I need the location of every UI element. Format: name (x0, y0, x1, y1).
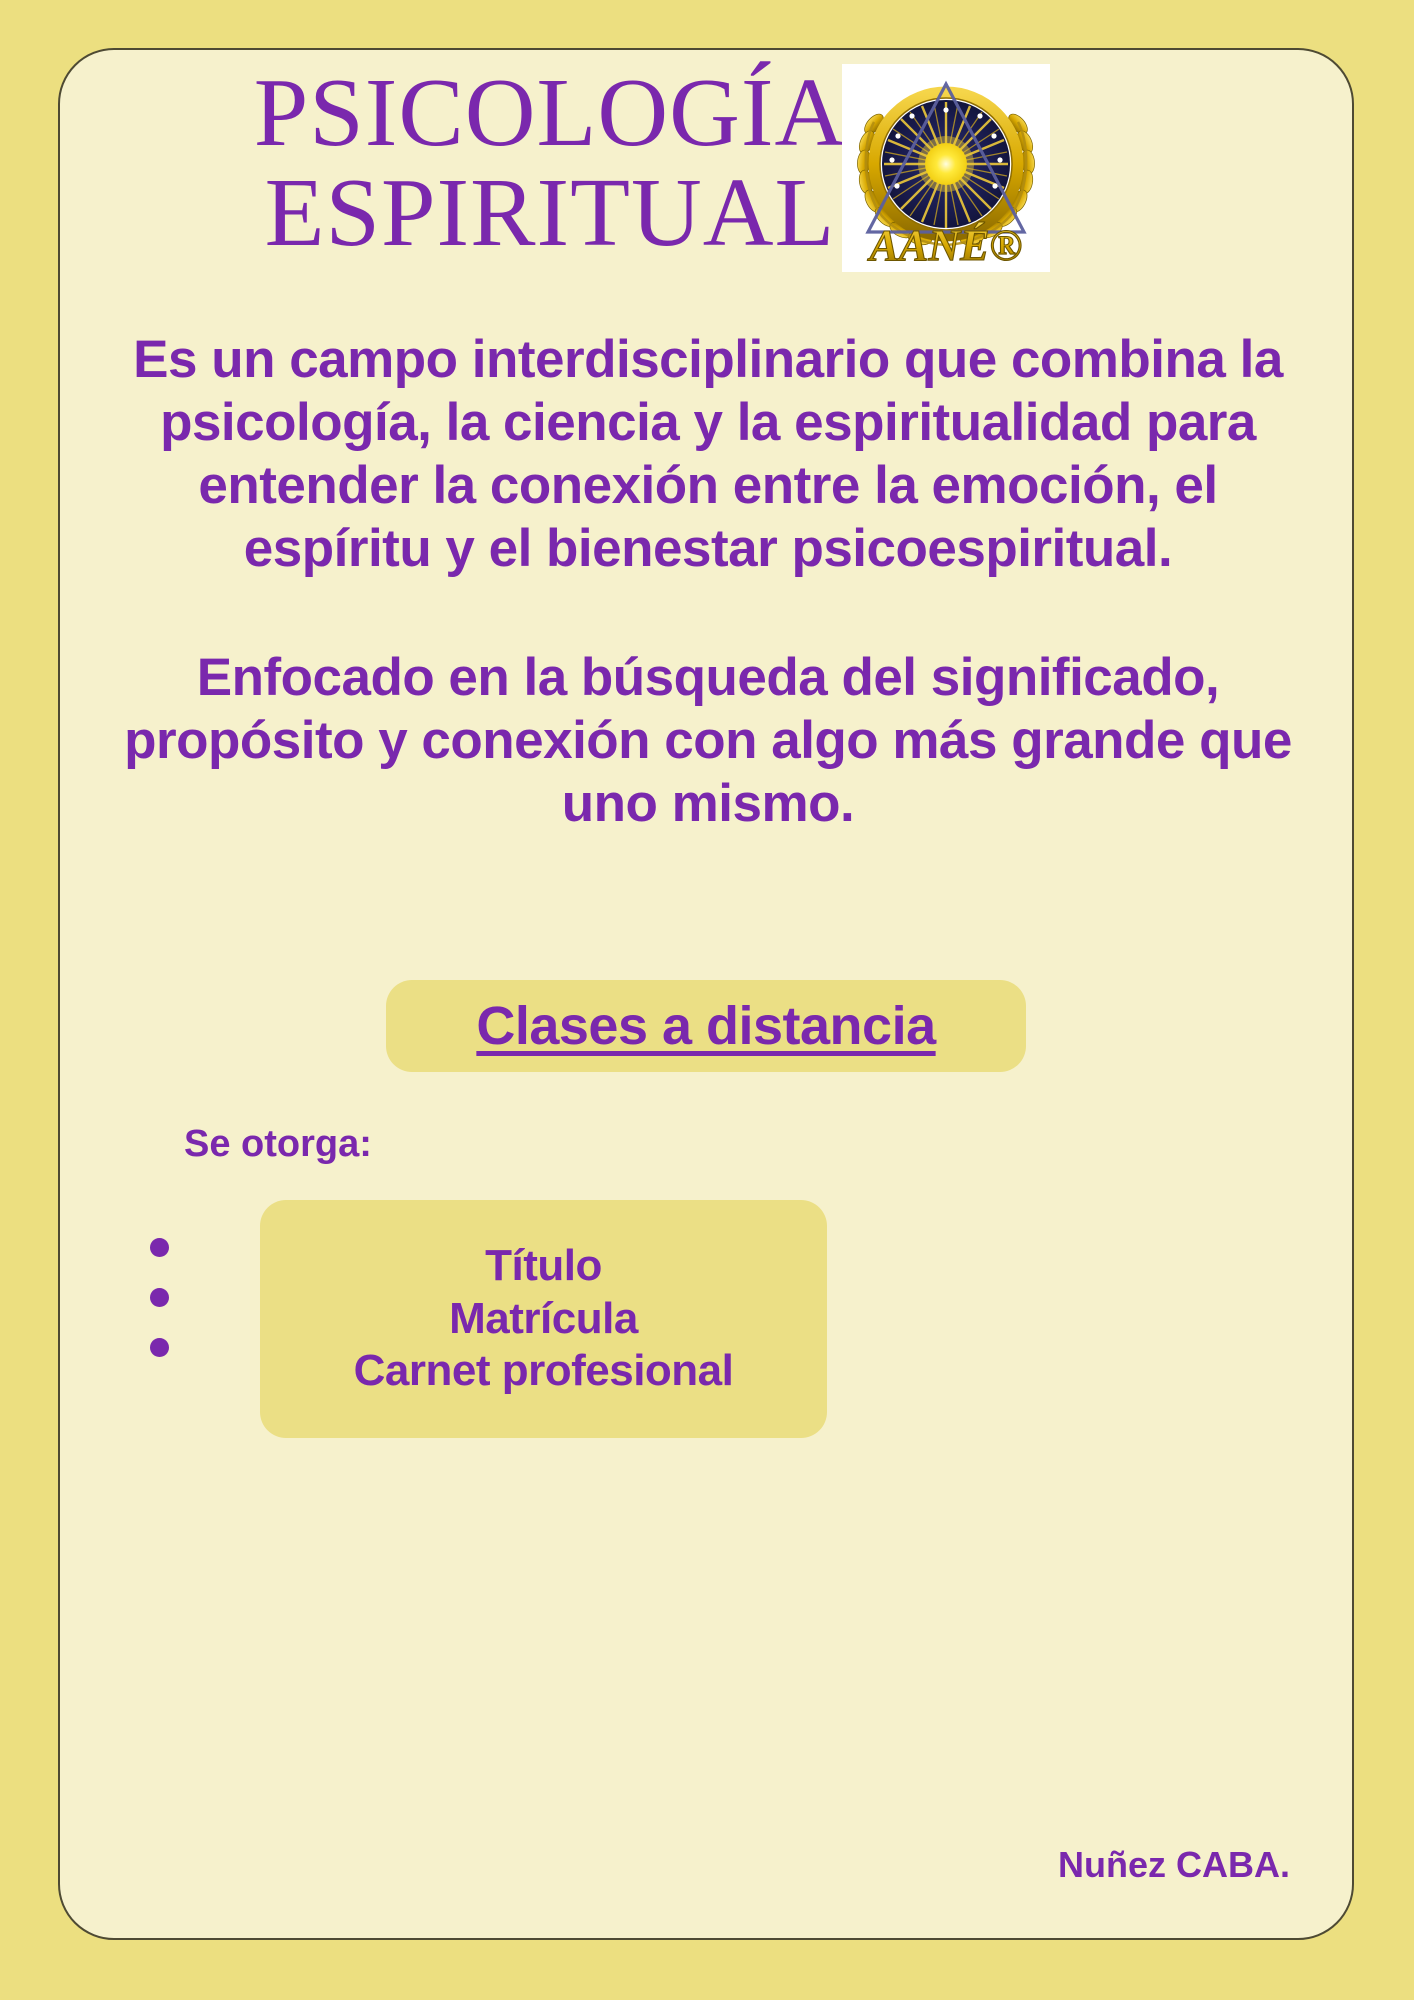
bullet-marker (150, 1288, 169, 1307)
credential-item: Título (485, 1240, 602, 1293)
poster-canvas: PSICOLOGÍA ESPIRITUAL (0, 0, 1414, 2000)
footer-location: Nuñez CABA. (1058, 1844, 1290, 1886)
page-title: PSICOLOGÍA ESPIRITUAL (170, 64, 930, 264)
credentials-heading: Se otorga: (184, 1123, 372, 1166)
aane-logo: AANÉ® (842, 64, 1050, 272)
credentials-box: Título Matrícula Carnet profesional (260, 1200, 827, 1438)
cta-container: Clases a distancia (60, 980, 1352, 1072)
credential-item: Carnet profesional (354, 1345, 734, 1398)
body-copy: Es un campo interdisciplinario que combi… (100, 328, 1316, 835)
credential-item: Matrícula (449, 1293, 638, 1346)
logo-wordmark: AANÉ® (867, 221, 1023, 270)
cta-label: Clases a distancia (476, 995, 935, 1057)
poster-header: PSICOLOGÍA ESPIRITUAL (60, 50, 1352, 308)
poster-panel: PSICOLOGÍA ESPIRITUAL (58, 48, 1354, 1940)
title-line-1: PSICOLOGÍA (170, 64, 930, 164)
aane-logo-icon: AANÉ® (842, 64, 1050, 272)
paragraph-2: Enfocado en la búsqueda del significado,… (100, 646, 1316, 835)
title-line-2: ESPIRITUAL (170, 164, 930, 264)
credentials-bullet-list (150, 1238, 210, 1388)
bullet-marker (150, 1238, 169, 1257)
paragraph-1: Es un campo interdisciplinario que combi… (100, 328, 1316, 580)
credentials-section: Título Matrícula Carnet profesional (60, 1200, 1352, 1450)
bullet-marker (150, 1338, 169, 1357)
clases-a-distancia-button[interactable]: Clases a distancia (386, 980, 1026, 1072)
